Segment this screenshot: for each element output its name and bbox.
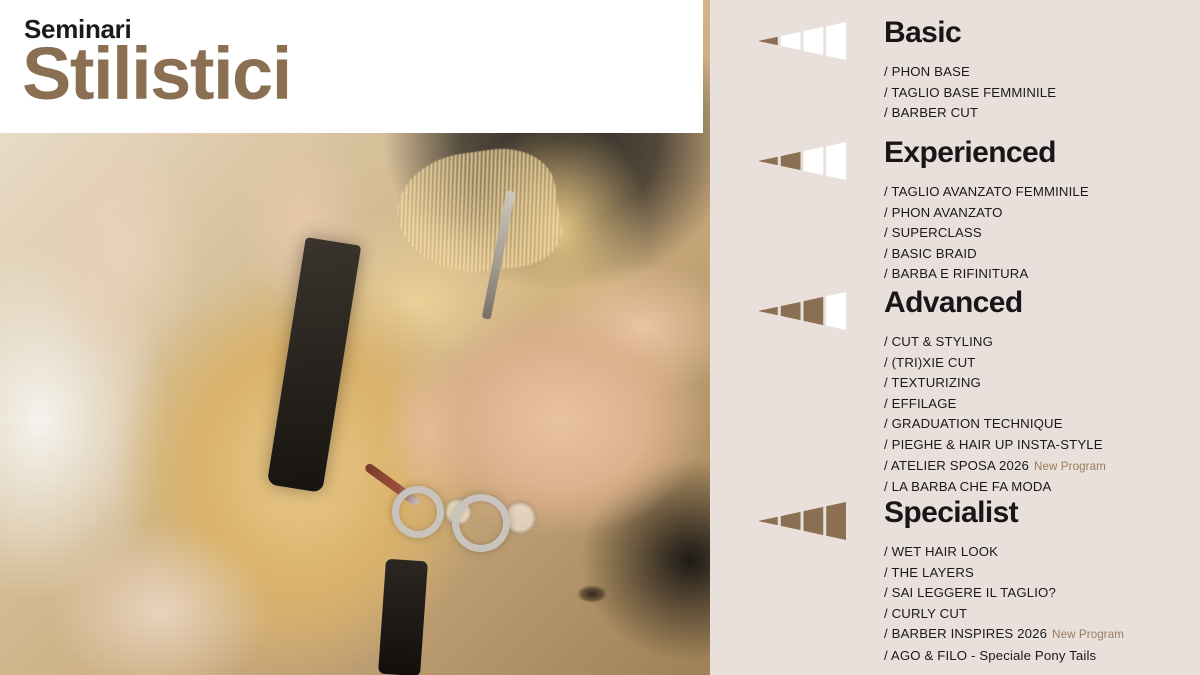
level-section-basic[interactable]: Basic/ PHON BASE/ TAGLIO BASE FEMMINILE/… [710, 18, 1200, 62]
course-item-label: / TAGLIO AVANZATO FEMMINILE [884, 184, 1089, 199]
course-item[interactable]: / BARBA E RIFINITURA [884, 264, 1089, 285]
course-list: / CUT & STYLING/ (TRI)XIE CUT/ TEXTURIZI… [884, 332, 1106, 498]
chevron-segment-3 [804, 27, 824, 55]
course-item-label: / CURLY CUT [884, 606, 967, 621]
course-item-label: / SAI LEGGERE IL TAGLIO? [884, 585, 1056, 600]
chevron-segment-2 [781, 152, 801, 170]
title-card: Seminari Stilistici [0, 0, 703, 133]
chevron-segment-1 [758, 307, 778, 316]
new-program-badge: New Program [1052, 628, 1124, 641]
level-title: Experienced [884, 134, 1056, 172]
new-program-badge: New Program [1034, 460, 1106, 473]
level-rank-chevron-icon [758, 22, 846, 60]
level-rank-chevron-icon [758, 142, 846, 180]
course-item[interactable]: / PHON BASE [884, 62, 1056, 83]
course-item-label: / PHON BASE [884, 64, 970, 79]
course-item[interactable]: / (TRI)XIE CUT [884, 353, 1106, 374]
course-item-label: / EFFILAGE [884, 396, 957, 411]
course-item-label: / ATELIER SPOSA 2026 [884, 458, 1029, 473]
chevron-segment-2 [781, 512, 801, 530]
course-item-label: / (TRI)XIE CUT [884, 355, 975, 370]
level-section-specialist[interactable]: Specialist/ WET HAIR LOOK/ THE LAYERS/ S… [710, 498, 1200, 542]
course-item-label: / TAGLIO BASE FEMMINILE [884, 85, 1056, 100]
course-item[interactable]: / TEXTURIZING [884, 373, 1106, 394]
course-item-label: / PHON AVANZATO [884, 205, 1003, 220]
course-item[interactable]: / SUPERCLASS [884, 223, 1089, 244]
course-item-label: / BASIC BRAID [884, 246, 977, 261]
course-item[interactable]: / BARBER CUT [884, 103, 1056, 124]
course-item[interactable]: / PIEGHE & HAIR UP INSTA-STYLE [884, 435, 1106, 456]
levels-panel: Basic/ PHON BASE/ TAGLIO BASE FEMMINILE/… [710, 0, 1200, 675]
chevron-segment-4 [826, 142, 846, 180]
course-item-label: / BARBA E RIFINITURA [884, 266, 1028, 281]
course-item-label: / SUPERCLASS [884, 225, 982, 240]
course-item[interactable]: / THE LAYERS [884, 563, 1124, 584]
course-item[interactable]: / AGO & FILO - Speciale Pony Tails [884, 646, 1124, 667]
level-rank-indicator [758, 502, 846, 540]
course-item[interactable]: / SAI LEGGERE IL TAGLIO? [884, 583, 1124, 604]
chevron-segment-4 [826, 292, 846, 330]
chevron-segment-1 [758, 37, 778, 46]
page-title: Stilistici [22, 40, 291, 108]
course-item-label: / BARBER INSPIRES 2026 [884, 626, 1047, 641]
level-rank-indicator [758, 292, 846, 330]
course-item[interactable]: / WET HAIR LOOK [884, 542, 1124, 563]
course-list: / TAGLIO AVANZATO FEMMINILE/ PHON AVANZA… [884, 182, 1089, 285]
chevron-segment-1 [758, 517, 778, 526]
chevron-segment-2 [781, 32, 801, 50]
course-item[interactable]: / BASIC BRAID [884, 244, 1089, 265]
level-title: Basic [884, 14, 961, 52]
level-header: Advanced [710, 288, 1200, 332]
dark-hair-section [378, 559, 428, 675]
course-item-label: / THE LAYERS [884, 565, 974, 580]
course-item[interactable]: / CURLY CUT [884, 604, 1124, 625]
chevron-segment-2 [781, 302, 801, 320]
course-item[interactable]: / PHON AVANZATO [884, 203, 1089, 224]
level-rank-chevron-icon [758, 292, 846, 330]
course-list: / PHON BASE/ TAGLIO BASE FEMMINILE/ BARB… [884, 62, 1056, 124]
chevron-segment-3 [804, 507, 824, 535]
course-item-label: / GRADUATION TECHNIQUE [884, 416, 1063, 431]
level-section-advanced[interactable]: Advanced/ CUT & STYLING/ (TRI)XIE CUT/ T… [710, 288, 1200, 332]
course-item[interactable]: / GRADUATION TECHNIQUE [884, 414, 1106, 435]
level-title: Specialist [884, 494, 1018, 532]
course-item-label: / PIEGHE & HAIR UP INSTA-STYLE [884, 437, 1103, 452]
course-item[interactable]: / BARBER INSPIRES 2026New Program [884, 624, 1124, 646]
level-section-experienced[interactable]: Experienced/ TAGLIO AVANZATO FEMMINILE/ … [710, 138, 1200, 182]
level-rank-chevron-icon [758, 502, 846, 540]
course-item-label: / TEXTURIZING [884, 375, 981, 390]
chevron-segment-4 [826, 22, 846, 60]
level-header: Experienced [710, 138, 1200, 182]
chevron-segment-4 [826, 502, 846, 540]
course-item[interactable]: / ATELIER SPOSA 2026New Program [884, 456, 1106, 478]
level-rank-indicator [758, 142, 846, 180]
level-rank-indicator [758, 22, 846, 60]
chevron-segment-3 [804, 147, 824, 175]
level-header: Specialist [710, 498, 1200, 542]
course-item-label: / WET HAIR LOOK [884, 544, 998, 559]
level-header: Basic [710, 18, 1200, 62]
course-item[interactable]: / CUT & STYLING [884, 332, 1106, 353]
course-item-label: / CUT & STYLING [884, 334, 993, 349]
course-item-label: / BARBER CUT [884, 105, 978, 120]
course-item[interactable]: / TAGLIO AVANZATO FEMMINILE [884, 182, 1089, 203]
course-item[interactable]: / EFFILAGE [884, 394, 1106, 415]
course-item[interactable]: / TAGLIO BASE FEMMINILE [884, 83, 1056, 104]
slide-root: Seminari Stilistici Basic/ PHON BASE/ TA… [0, 0, 1200, 675]
chevron-segment-1 [758, 157, 778, 166]
course-list: / WET HAIR LOOK/ THE LAYERS/ SAI LEGGERE… [884, 542, 1124, 667]
course-item-label: / LA BARBA CHE FA MODA [884, 479, 1051, 494]
chevron-segment-3 [804, 297, 824, 325]
course-item-label: / AGO & FILO - Speciale Pony Tails [884, 648, 1096, 663]
level-title: Advanced [884, 284, 1023, 322]
